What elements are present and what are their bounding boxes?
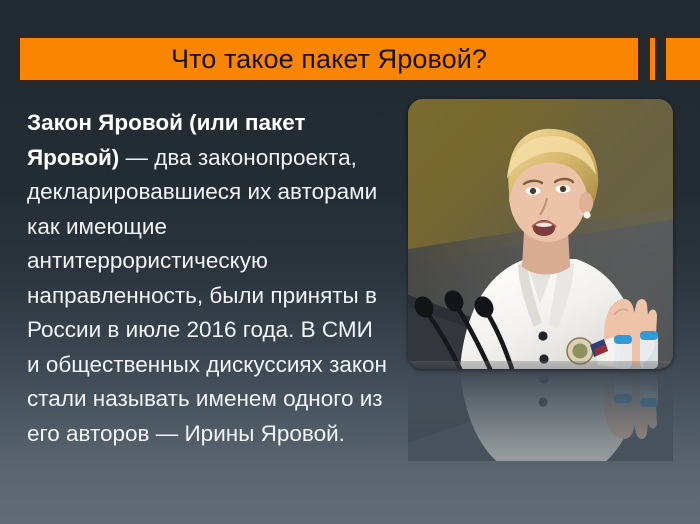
slide-canvas: Что такое пакет Яровой? Закон Яровой (ил… — [0, 0, 700, 524]
body-paragraph: Закон Яровой (или пакет Яровой) — два за… — [27, 106, 389, 451]
speaker-photo-reflection — [408, 369, 673, 461]
title-banner-tick-segment — [648, 36, 657, 82]
page-title: Что такое пакет Яровой? — [18, 36, 640, 82]
speaker-photo-container — [408, 99, 673, 369]
body-rest-text: — два законопроекта, декларировавшиеся и… — [27, 145, 387, 446]
title-banner-right-segment — [664, 36, 700, 82]
speaker-photo — [408, 99, 673, 369]
